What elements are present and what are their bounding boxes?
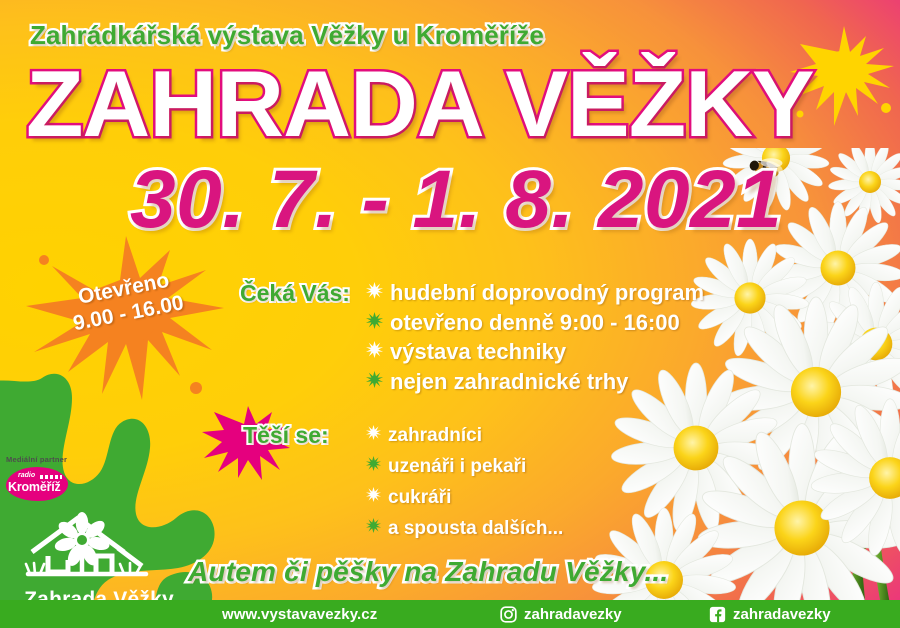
radio-kromeriz-radio-word: radio xyxy=(18,472,35,479)
white-star-bullet-icon xyxy=(366,425,388,440)
list-tesi-se: zahradníci uzenáři i pekaři cukráři a sp… xyxy=(366,420,563,544)
radio-kromeriz-logo[interactable]: radio Kroměříž xyxy=(6,467,68,501)
poster-subtitle: Zahrádkářská výstava Věžky u Kroměříže xyxy=(30,20,544,51)
green-star-bullet-icon xyxy=(366,518,388,533)
brand-logo[interactable]: Zahrada Věžky xyxy=(14,504,174,612)
list-item-label: otevřeno denně 9:00 - 16:00 xyxy=(390,308,680,338)
list-item: zahradníci xyxy=(366,420,563,451)
list-item: otevřeno denně 9:00 - 16:00 xyxy=(366,308,704,338)
white-star-bullet-icon xyxy=(366,341,390,358)
list-item-label: uzenáři i pekaři xyxy=(388,451,526,482)
white-star-bullet-icon xyxy=(366,487,388,502)
instagram-link[interactable]: zahradavezky xyxy=(500,606,622,623)
section-label-ceka-vas: Čeká Vás: xyxy=(240,280,350,307)
event-poster: Zahrádkářská výstava Věžky u Kroměříže Z… xyxy=(0,0,900,628)
list-item: uzenáři i pekaři xyxy=(366,451,563,482)
list-item: výstava techniky xyxy=(366,337,704,367)
list-ceka-vas: hudební doprovodný program otevřeno denn… xyxy=(366,278,704,396)
list-item-label: a spousta dalších... xyxy=(388,513,563,544)
facebook-link[interactable]: zahradavezky xyxy=(709,606,831,623)
media-partner-label: Mediální partner xyxy=(6,455,90,464)
list-item: cukráři xyxy=(366,482,563,513)
green-star-bullet-icon xyxy=(366,371,390,388)
green-star-bullet-icon xyxy=(366,312,390,329)
list-item: a spousta dalších... xyxy=(366,513,563,544)
section-label-tesi-se: Těší se: xyxy=(243,422,329,449)
house-with-flower-icon xyxy=(14,504,174,590)
list-item-label: výstava techniky xyxy=(390,337,566,367)
tagline: Autem či pěšky na Zahradu Věžky... xyxy=(188,556,668,588)
green-star-bullet-icon xyxy=(366,456,388,471)
list-item-label: cukráři xyxy=(388,482,451,513)
poster-title: ZAHRADA VĚŽKY xyxy=(26,56,814,152)
instagram-handle: zahradavezky xyxy=(524,606,622,623)
footer-bar: www.vystavavezky.cz zahradavezky zahrada… xyxy=(0,600,900,628)
facebook-handle: zahradavezky xyxy=(733,606,831,623)
list-item: nejen zahradnické trhy xyxy=(366,367,704,397)
list-item-label: hudební doprovodný program xyxy=(390,278,704,308)
instagram-icon xyxy=(500,606,517,623)
event-dates: 30. 7. - 1. 8. 2021 xyxy=(130,157,782,243)
list-item-label: zahradníci xyxy=(388,420,482,451)
media-partner: Mediální partner radio Kroměříž xyxy=(6,455,90,501)
radio-kromeriz-dashes xyxy=(40,475,62,479)
facebook-icon xyxy=(709,606,726,623)
radio-kromeriz-city-word: Kroměříž xyxy=(8,480,61,494)
white-star-bullet-icon xyxy=(366,282,390,299)
list-item: hudební doprovodný program xyxy=(366,278,704,308)
opening-hours: Otevřeno 9.00 - 16.00 xyxy=(43,261,210,341)
list-item-label: nejen zahradnické trhy xyxy=(390,367,628,397)
website-link[interactable]: www.vystavavezky.cz xyxy=(222,606,377,623)
